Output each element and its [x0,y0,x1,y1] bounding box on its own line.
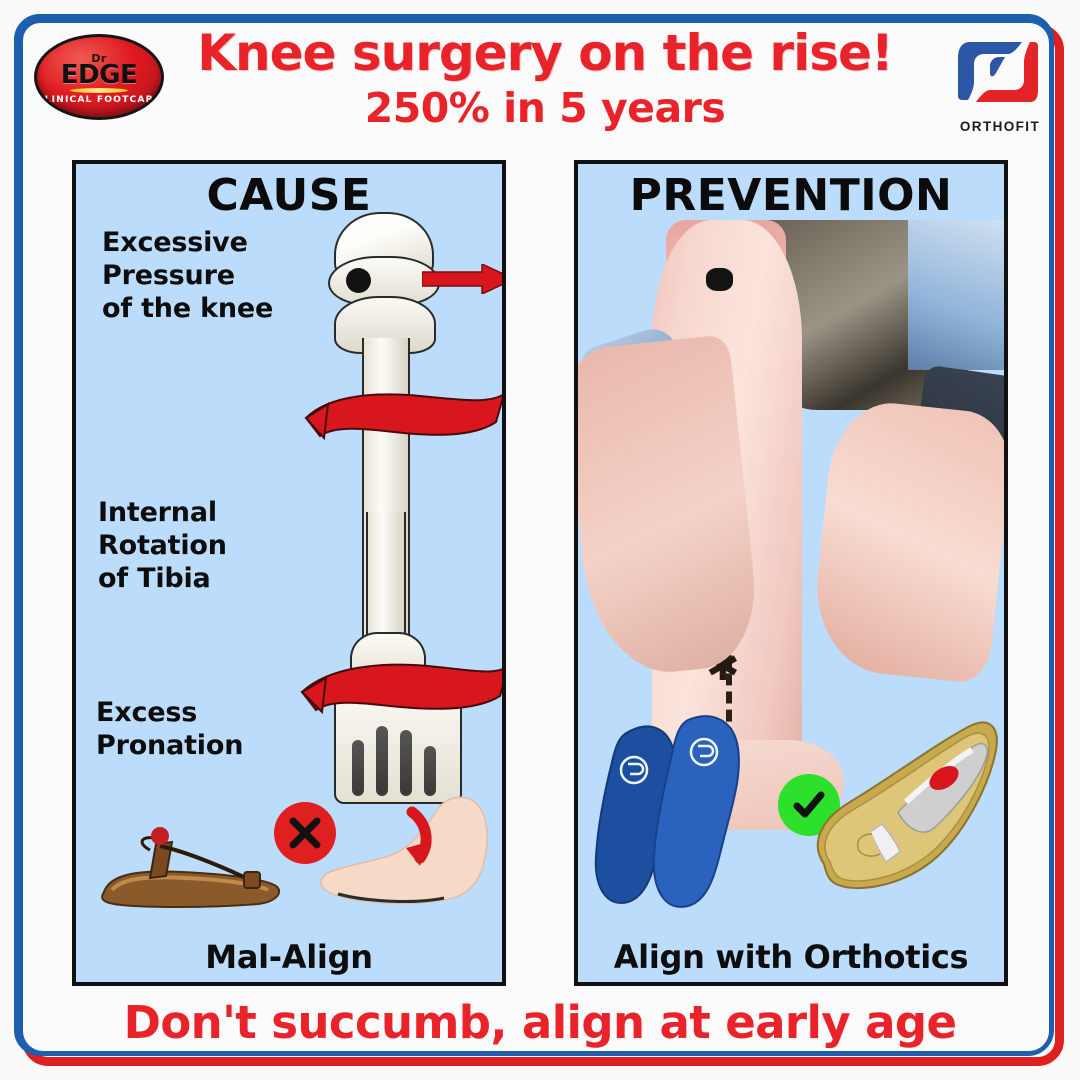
label-line: Excess [96,696,243,729]
panel-prevention-footer: Align with Orthotics [578,938,1004,976]
dr-edge-tagline: CLINICAL FOOTCARE [37,95,161,105]
orthofit-mark-icon [952,36,1044,108]
panel-cause: CAUSE Excessive Pressure of the knee Int… [72,160,506,986]
header: Dr EDGE CLINICAL FOOTCARE Knee surgery o… [0,18,1080,148]
footer-tagline: Don't succumb, align at early age [0,996,1080,1049]
knee-marker-dot-icon [346,268,371,293]
label-excessive-pressure: Excessive Pressure of the knee [102,226,273,325]
orthofit-logo: ORTHOFIT [946,36,1054,136]
orthofit-word-bold: FIT [1016,119,1040,134]
label-line: of the knee [102,292,273,325]
panels-row: CAUSE Excessive Pressure of the knee Int… [0,160,1080,988]
page-title: Knee surgery on the rise! 250% in 5 year… [150,24,940,132]
title-sub: 250% in 5 years [150,84,940,132]
tibia-shaft-lower-icon [366,512,406,652]
panel-cause-footer: Mal-Align [76,938,502,976]
leg-bone-diagram [294,212,504,812]
label-internal-rotation: Internal Rotation of Tibia [98,496,227,595]
hand-right-image [808,397,1004,684]
dr-edge-swoosh [70,88,128,93]
dr-edge-wordmark: EDGE [61,63,137,87]
knee-marker-dot-icon [706,268,733,291]
pronating-foot-image [316,796,494,912]
label-line: Rotation [98,529,227,562]
label-line: of Tibia [98,562,227,595]
title-main: Knee surgery on the rise! [150,24,940,82]
flat-sandal-image [98,816,284,908]
label-line: Pressure [102,259,273,292]
panel-prevention: PREVENTION × ✱ × [574,160,1008,986]
label-line: Pronation [96,729,243,762]
clinician-shirt-image [908,220,1004,370]
gold-orthotic-sandal-image [786,716,1002,902]
poster-root: Dr EDGE CLINICAL FOOTCARE Knee surgery o… [0,0,1080,1080]
internal-rotation-arrow-icon [290,388,506,446]
panel-prevention-title: PREVENTION [578,164,1004,224]
pressure-arrow-icon [422,264,506,294]
orthofit-wordmark: ORTHOFIT [946,119,1054,134]
label-excess-pronation: Excess Pronation [96,696,243,762]
dr-edge-logo: Dr EDGE CLINICAL FOOTCARE [34,34,164,120]
label-line: Internal [98,496,227,529]
orthotics-examples [578,702,1004,932]
pronation-arrow-icon [282,658,506,718]
label-line: Excessive [102,226,273,259]
blue-orthotic-insoles-image [592,714,802,914]
orthofit-word-light: ORTHO [960,119,1016,134]
mal-align-examples [76,776,502,926]
